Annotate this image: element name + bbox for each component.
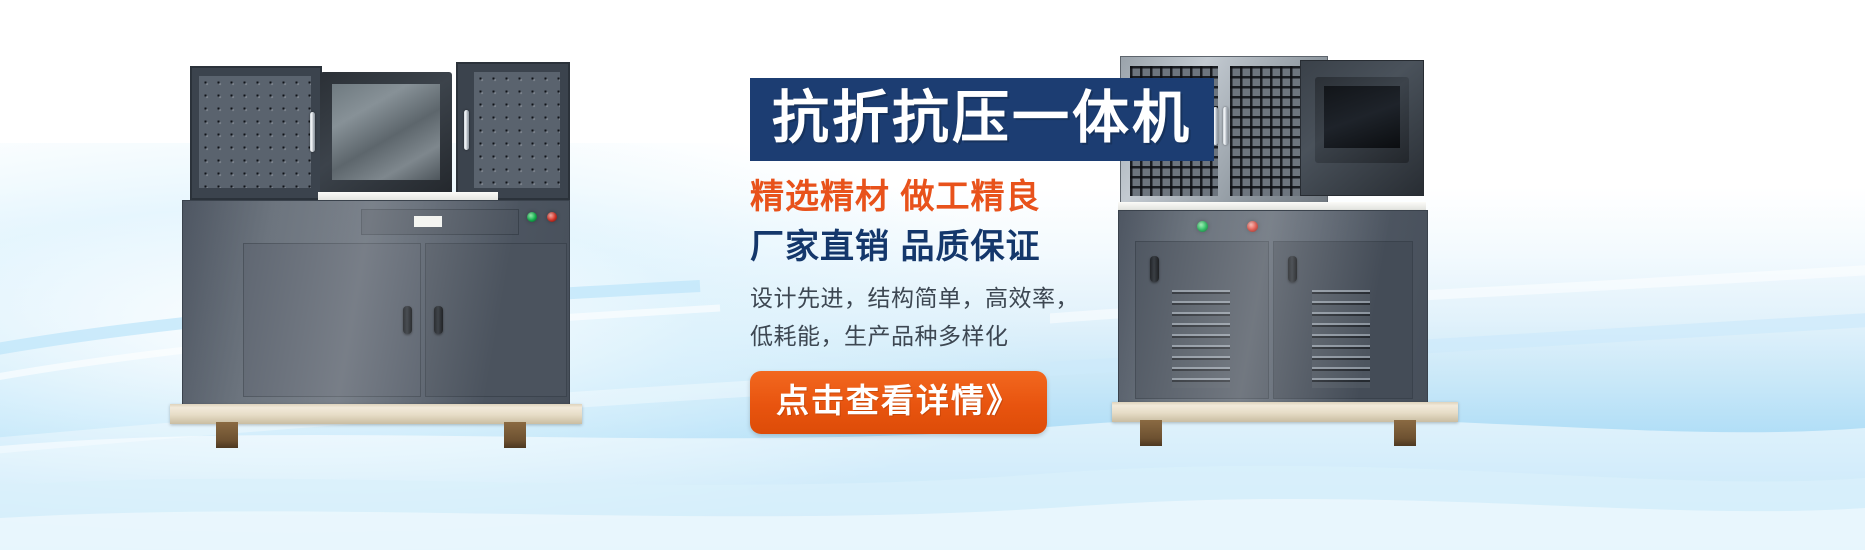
left-machine-door-1 — [243, 243, 421, 397]
cabinet-handle — [464, 110, 469, 150]
left-machine-control-drawer — [361, 209, 519, 235]
description-line-2: 低耗能，生产品种多样化 — [750, 317, 1270, 355]
view-details-button[interactable]: 点击查看详情》 — [750, 371, 1047, 434]
door-handle — [403, 306, 412, 334]
left-machine-door-2 — [425, 243, 567, 397]
pallet-leg — [216, 422, 238, 448]
door-handle — [434, 306, 443, 334]
left-machine-upper-left-cabinet — [190, 66, 322, 200]
product-image-left — [168, 48, 588, 430]
description-line-1: 设计先进，结构简单，高效率， — [750, 279, 1270, 317]
monitor-bezel — [1315, 77, 1409, 163]
indicator-light-red — [547, 212, 557, 222]
title-banner-bar: 抗折抗压一体机 — [750, 78, 1214, 161]
right-machine-monitor-screen — [1324, 86, 1400, 148]
right-machine-monitor-housing — [1300, 60, 1424, 196]
control-label — [414, 216, 442, 227]
headline-orange: 精选精材 做工精良 — [750, 175, 1270, 219]
ventilation-louvers — [1312, 290, 1370, 388]
pallet-leg — [1394, 420, 1416, 446]
headline-blue: 厂家直销 品质保证 — [750, 225, 1270, 269]
left-machine-body — [182, 200, 570, 406]
left-machine-pallet — [170, 404, 582, 424]
door-handle — [1288, 256, 1297, 282]
perforated-panel — [474, 72, 560, 188]
perforated-panel — [199, 76, 311, 188]
indicator-light-green — [527, 212, 537, 222]
cabinet-handle — [310, 112, 315, 152]
promo-banner: 抗折抗压一体机 精选精材 做工精良 厂家直销 品质保证 设计先进，结构简单，高效… — [0, 0, 1865, 550]
left-machine-monitor-screen — [332, 84, 440, 180]
right-machine-door-2 — [1273, 241, 1413, 399]
marketing-copy-block: 抗折抗压一体机 精选精材 做工精良 厂家直销 品质保证 设计先进，结构简单，高效… — [750, 78, 1270, 434]
view-details-button-label: 点击查看详情》 — [776, 382, 1021, 419]
page-title: 抗折抗压一体机 — [772, 87, 1192, 149]
left-machine-upper-right-cabinet — [456, 62, 570, 200]
pallet-leg — [504, 422, 526, 448]
left-machine-monitor-housing — [320, 72, 452, 196]
